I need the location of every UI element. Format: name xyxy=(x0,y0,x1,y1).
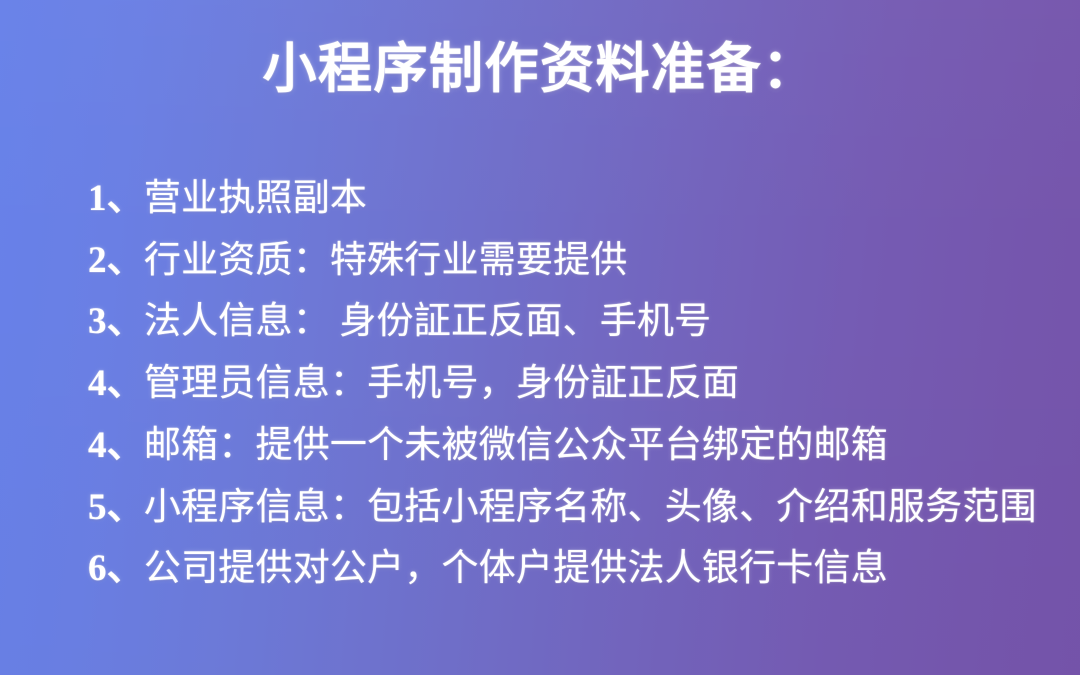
requirements-list: 1、营业执照副本 2、行业资质：特殊行业需要提供 3、法人信息： 身份証正反面、… xyxy=(88,168,1040,600)
list-item-label: 小程序信息：包括小程序名称、头像、介绍和服务范围 xyxy=(144,487,1037,528)
list-item: 2、行业资质：特殊行业需要提供 xyxy=(88,230,1040,292)
list-item-number: 6、 xyxy=(88,548,144,589)
list-item-label: 行业资质：特殊行业需要提供 xyxy=(144,240,628,281)
list-item: 6、公司提供对公户，个体户提供法人银行卡信息 xyxy=(88,538,1040,600)
list-item-label: 管理员信息：手机号，身份証正反面 xyxy=(144,363,739,404)
list-item-label: 公司提供对公户，个体户提供法人银行卡信息 xyxy=(144,548,888,589)
list-item-number: 3、 xyxy=(88,301,144,342)
list-item-label: 营业执照副本 xyxy=(144,178,367,219)
list-item-number: 2、 xyxy=(88,240,144,281)
list-item: 5、小程序信息：包括小程序名称、头像、介绍和服务范围 xyxy=(88,477,1040,539)
list-item: 1、营业执照副本 xyxy=(88,168,1040,230)
list-item-label: 法人信息： 身份証正反面、手机号 xyxy=(144,301,711,342)
page-title: 小程序制作资料准备： xyxy=(0,38,1080,100)
list-item-number: 5、 xyxy=(88,487,144,528)
list-item: 4、邮箱：提供一个未被微信公众平台绑定的邮箱 xyxy=(88,415,1040,477)
list-item-number: 1、 xyxy=(88,178,144,219)
list-item-label: 邮箱：提供一个未被微信公众平台绑定的邮箱 xyxy=(144,425,888,466)
list-item-number: 4、 xyxy=(88,363,144,404)
slide-canvas: 小程序制作资料准备： 1、营业执照副本 2、行业资质：特殊行业需要提供 3、法人… xyxy=(0,0,1080,675)
list-item: 4、管理员信息：手机号，身份証正反面 xyxy=(88,353,1040,415)
list-item-number: 4、 xyxy=(88,425,144,466)
list-item: 3、法人信息： 身份証正反面、手机号 xyxy=(88,291,1040,353)
